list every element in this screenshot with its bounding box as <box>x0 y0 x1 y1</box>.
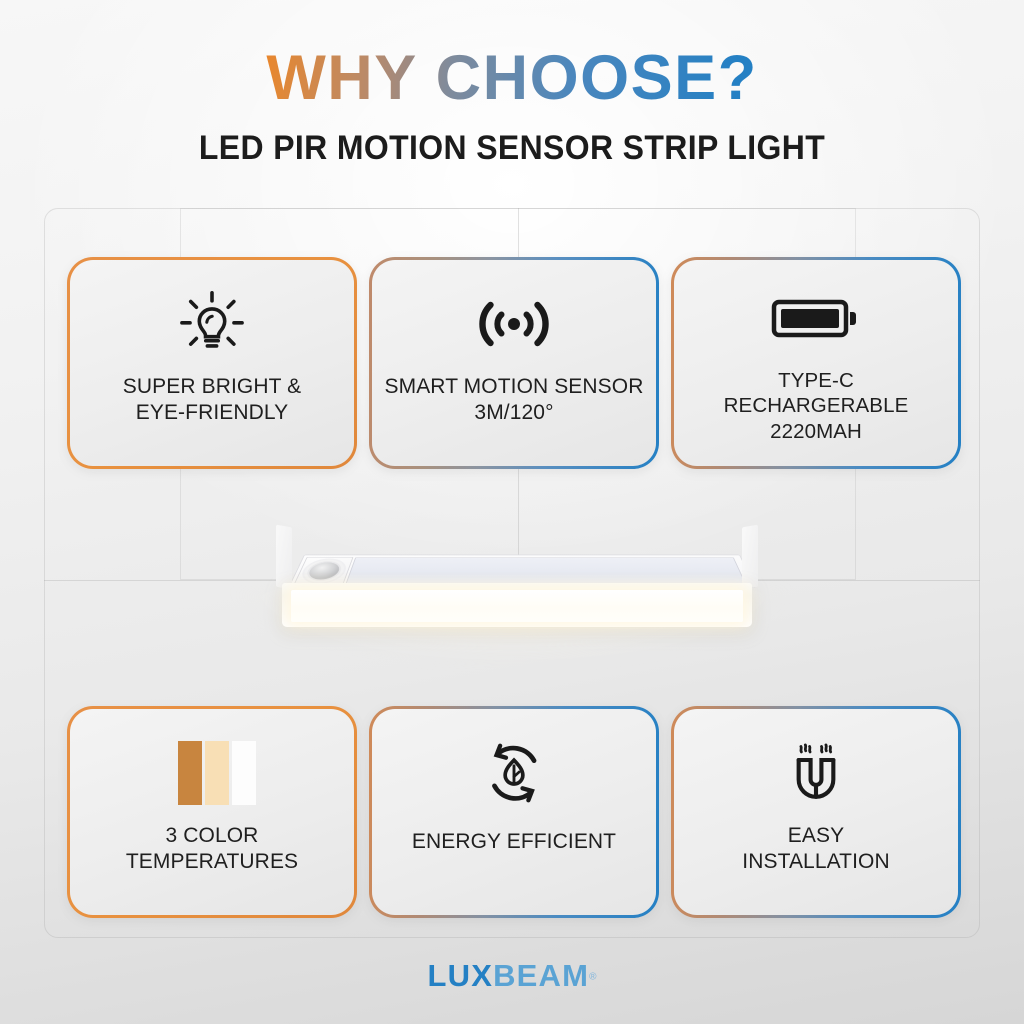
lightbulb-icon <box>175 278 249 370</box>
brand-logo: LUXBEAM® <box>0 958 1024 994</box>
color-swatches-icon <box>164 727 260 819</box>
feature-label: SUPER BRIGHT & EYE-FRIENDLY <box>113 374 311 427</box>
motion-waves-icon <box>471 278 557 370</box>
device-end-cap-left <box>276 525 292 590</box>
device-light-lens <box>291 590 743 622</box>
magnet-icon <box>776 727 856 819</box>
feature-label: EASY INSTALLATION <box>732 823 899 876</box>
brand-name: LUXBEAM <box>427 958 589 993</box>
feature-card-motion-sensor[interactable]: SMART MOTION SENSOR 3M/120° <box>369 257 659 469</box>
feature-label: 3 COLOR TEMPERATURES <box>116 823 308 876</box>
battery-icon <box>770 272 862 364</box>
eco-leaf-recycle-icon <box>475 727 553 819</box>
page-title: WHY CHOOSE? <box>0 47 1024 110</box>
device-diffuser-panel <box>345 557 747 585</box>
brand-name-part1: LUX <box>427 958 493 993</box>
feature-card-easy-installation[interactable]: EASY INSTALLATION <box>671 706 961 918</box>
device-front-face <box>282 583 752 627</box>
feature-label: TYPE-C RECHARGERABLE 2220MAH <box>714 368 919 444</box>
device-end-cap-right <box>742 525 758 590</box>
feature-card-super-bright[interactable]: SUPER BRIGHT & EYE-FRIENDLY <box>67 257 357 469</box>
infographic-poster: WHY CHOOSE? LED PIR MOTION SENSOR STRIP … <box>0 0 1024 1024</box>
feature-card-energy-efficient[interactable]: ENERGY EFFICIENT <box>369 706 659 918</box>
feature-label: SMART MOTION SENSOR 3M/120° <box>375 374 654 427</box>
product-image <box>0 500 1024 720</box>
feature-card-color-temperatures[interactable]: 3 COLOR TEMPERATURES <box>67 706 357 918</box>
registered-mark: ® <box>589 972 596 983</box>
device-sensor-pad <box>293 557 353 586</box>
pir-sensor-dome <box>306 562 342 579</box>
feature-card-rechargeable[interactable]: TYPE-C RECHARGERABLE 2220MAH <box>671 257 961 469</box>
page-subtitle: LED PIR MOTION SENSOR STRIP LIGHT <box>31 129 994 168</box>
brand-name-part2: BEAM <box>493 958 589 993</box>
feature-label: ENERGY EFFICIENT <box>402 829 626 855</box>
